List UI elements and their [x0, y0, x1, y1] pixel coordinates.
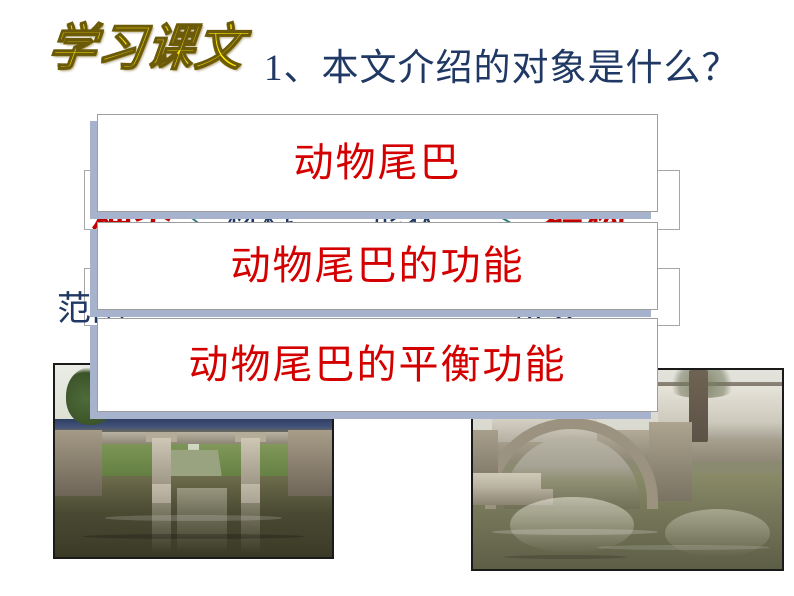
photo-reflection-3 — [177, 488, 227, 553]
answer-text-2: 动物尾巴的功能 — [231, 246, 525, 286]
page-title: 学习课文 — [46, 22, 248, 74]
photo-ripple-3 — [504, 555, 628, 559]
answer-text-1: 动物尾巴 — [294, 143, 462, 183]
photo-reflection-1 — [510, 497, 634, 553]
photo-abutment-right — [288, 430, 332, 495]
answer-box-2[interactable]: 动物尾巴的功能 — [97, 222, 658, 310]
question-text: 1、本文介绍的对象是什么？ — [264, 37, 740, 91]
slide-canvas: 种类 材料 形状 结构 范围 拱天 学习课文 1、本文介绍的对象是什么？ — [0, 0, 794, 596]
photo-ripple-2 — [83, 534, 305, 539]
photo-ripple-1 — [105, 515, 282, 521]
answer-box-3[interactable]: 动物尾巴的平衡功能 — [97, 318, 658, 412]
photo-abutment-left — [55, 430, 102, 495]
answer-box-1[interactable]: 动物尾巴 — [97, 114, 658, 212]
answer-text-3: 动物尾巴的平衡功能 — [189, 345, 567, 385]
